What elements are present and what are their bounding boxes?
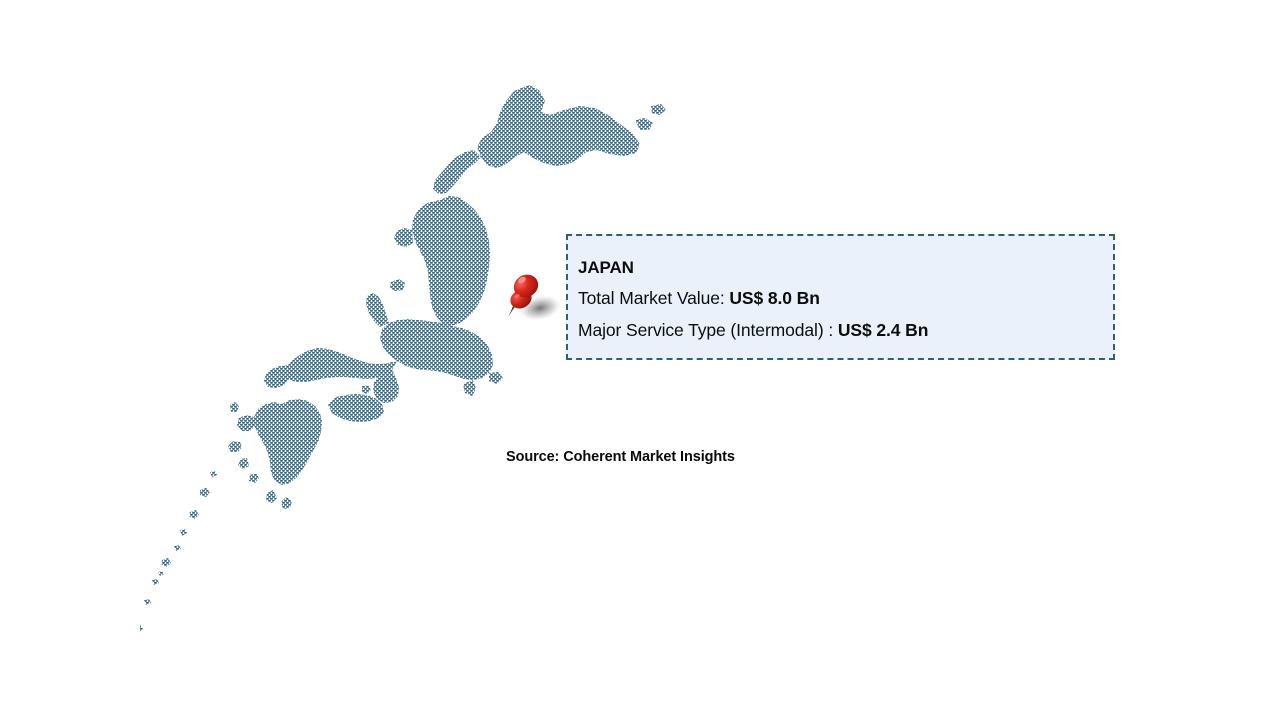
map-pin-icon — [497, 268, 563, 330]
japan-map — [140, 60, 700, 660]
callout-label-total-market-value: Total Market Value: — [578, 288, 725, 308]
infographic-canvas: JAPAN Total Market Value: US$ 8.0 Bn Maj… — [0, 0, 1280, 720]
japan-landmass — [140, 60, 700, 660]
callout-value-total-market-value: US$ 8.0 Bn — [729, 288, 819, 308]
callout-content: JAPAN Total Market Value: US$ 8.0 Bn Maj… — [568, 236, 1113, 346]
callout-value-major-service-type: US$ 2.4 Bn — [838, 320, 928, 340]
japan-map-svg — [140, 60, 700, 660]
callout-box: JAPAN Total Market Value: US$ 8.0 Bn Maj… — [566, 234, 1115, 360]
callout-line-major-service-type: Major Service Type (Intermodal) : US$ 2.… — [578, 314, 1113, 346]
callout-title: JAPAN — [578, 254, 1113, 282]
source-attribution: Source: Coherent Market Insights — [506, 449, 735, 465]
map-pin-marker[interactable] — [497, 268, 563, 330]
callout-line-total-market-value: Total Market Value: US$ 8.0 Bn — [578, 282, 1113, 314]
callout-label-major-service-type: Major Service Type (Intermodal) : — [578, 320, 833, 340]
